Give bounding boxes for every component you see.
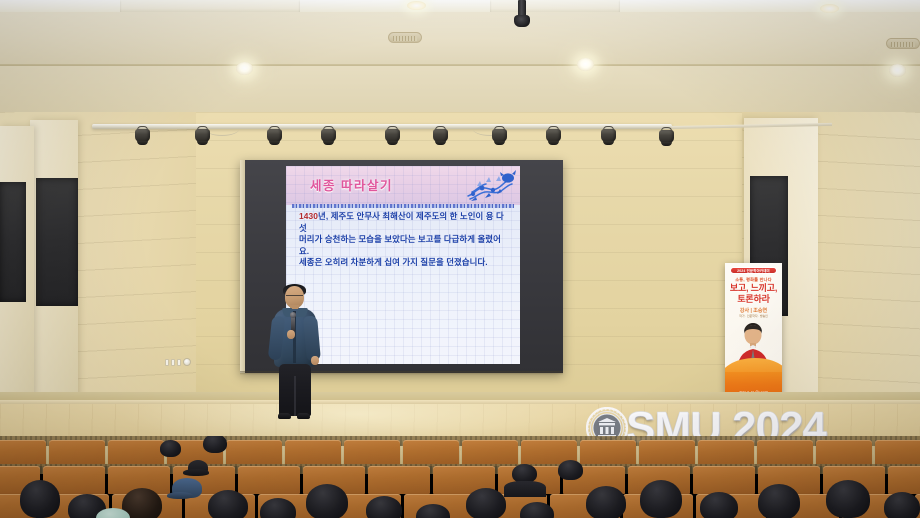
auditorium-seat[interactable] bbox=[580, 440, 636, 466]
lighting-truss bbox=[92, 124, 672, 129]
presenter-shoe-left bbox=[278, 413, 291, 419]
banner-author: 강사 | 조승연 bbox=[725, 307, 782, 314]
wall-switch[interactable] bbox=[171, 359, 175, 366]
presenter-trousers bbox=[279, 364, 311, 416]
audience-head bbox=[826, 480, 870, 518]
auditorium-seat[interactable] bbox=[226, 440, 282, 466]
auditorium-seat[interactable] bbox=[816, 440, 872, 466]
stage-spotlight bbox=[600, 126, 617, 145]
stage-spotlight bbox=[266, 126, 283, 145]
ceiling-downlight bbox=[407, 1, 426, 10]
audience-head bbox=[208, 490, 248, 518]
ceiling-downlight bbox=[236, 62, 253, 75]
auditorium-seat[interactable] bbox=[49, 440, 105, 466]
slide-divider-rule bbox=[292, 204, 514, 208]
left-wall-dark-panel-edge bbox=[0, 182, 26, 302]
wall-outlet[interactable] bbox=[183, 358, 191, 366]
audience-head bbox=[586, 486, 626, 518]
wall-switch[interactable] bbox=[165, 359, 169, 366]
audience-head bbox=[466, 488, 506, 518]
auditorium-seat[interactable] bbox=[108, 440, 164, 466]
audience-head bbox=[558, 460, 583, 480]
auditorium-seat[interactable] bbox=[344, 440, 400, 466]
stage-spotlight bbox=[432, 126, 449, 145]
ceiling-downlight bbox=[820, 4, 839, 13]
slide-body-rest: 년, 제주도 안무사 최해산이 제주도의 한 노인이 용 다섯 머리가 승천하는… bbox=[299, 211, 504, 267]
presenter-hand-left bbox=[287, 330, 295, 339]
banner-header-pill: 2024 인문학아카데미 bbox=[730, 267, 777, 274]
audience-head bbox=[884, 492, 920, 518]
slide-body-text: 1430년, 제주도 안무사 최해산이 제주도의 한 노인이 용 다섯 머리가 … bbox=[299, 211, 511, 269]
auditorium-photo: 세종 따라살기 1430년, 제주도 안무사 최해산이 제주도의 한 노인이 용… bbox=[0, 0, 920, 518]
audience-head bbox=[640, 480, 682, 518]
projection-screen-left-edge bbox=[240, 160, 245, 373]
audience-head bbox=[260, 498, 296, 518]
ceiling-downlight bbox=[889, 64, 906, 77]
banner-author-note: 작가 · 인문학자 · 방송인 bbox=[725, 314, 782, 318]
audience-head bbox=[306, 484, 348, 518]
auditorium-seat[interactable] bbox=[368, 466, 430, 494]
banner-header-text: 2024 인문학아카데미 bbox=[731, 268, 776, 273]
ceiling-projector-mount bbox=[518, 0, 526, 17]
audience-seating bbox=[0, 436, 920, 518]
auditorium-seat[interactable] bbox=[888, 466, 920, 494]
auditorium-seat[interactable] bbox=[238, 466, 300, 494]
slide-title: 세종 따라살기 bbox=[310, 175, 393, 194]
auditorium-seat[interactable] bbox=[639, 440, 695, 466]
auditorium-seat[interactable] bbox=[403, 440, 459, 466]
ceiling-downlight bbox=[577, 58, 594, 71]
audience-shoulders bbox=[504, 481, 546, 497]
audience-head bbox=[20, 480, 60, 518]
auditorium-seat[interactable] bbox=[462, 440, 518, 466]
slide-year: 1430 bbox=[299, 211, 318, 221]
banner-headline: 보고, 느끼고, 토론하라 bbox=[725, 283, 782, 304]
wall-switch-panel[interactable] bbox=[165, 358, 191, 366]
wall-switch[interactable] bbox=[177, 359, 181, 366]
event-banner: 2024 인문학아카데미 소통, 평화를 만나다 보고, 느끼고, 토론하라 강… bbox=[725, 263, 782, 400]
stage-spotlight bbox=[491, 126, 508, 145]
audience-cap bbox=[172, 478, 202, 498]
audience-head bbox=[203, 436, 227, 453]
auditorium-seat[interactable] bbox=[285, 440, 341, 466]
stage-spotlight bbox=[134, 126, 151, 145]
blue-dragon-icon bbox=[462, 168, 516, 204]
ceiling-main-panel bbox=[0, 12, 920, 70]
left-wall-dark-panel bbox=[36, 178, 78, 306]
stage-spotlight bbox=[384, 126, 401, 145]
audience-head bbox=[160, 440, 181, 457]
audience-cap bbox=[188, 460, 208, 475]
ceiling-air-vent bbox=[388, 32, 422, 43]
presenter bbox=[266, 286, 324, 420]
ceiling-lower-panel bbox=[0, 66, 920, 114]
seat-row bbox=[0, 440, 920, 466]
stage-spotlight bbox=[320, 126, 337, 145]
auditorium-seat[interactable] bbox=[875, 440, 920, 466]
stage-spotlight bbox=[194, 126, 211, 145]
auditorium-seat[interactable] bbox=[757, 440, 813, 466]
auditorium-seat[interactable] bbox=[698, 440, 754, 466]
presenter-arm-right bbox=[303, 315, 321, 361]
audience-head bbox=[758, 484, 800, 518]
stage-spotlight bbox=[658, 127, 675, 146]
audience-head bbox=[700, 492, 738, 518]
auditorium-seat[interactable] bbox=[693, 466, 755, 494]
audience-head bbox=[366, 496, 402, 518]
presenter-hand-right bbox=[311, 356, 319, 365]
presenter-glasses bbox=[286, 295, 303, 299]
ceiling-air-vent bbox=[886, 38, 920, 49]
auditorium-seat[interactable] bbox=[0, 440, 46, 466]
presenter-shoe-right bbox=[297, 413, 310, 419]
stage-spotlight bbox=[545, 126, 562, 145]
